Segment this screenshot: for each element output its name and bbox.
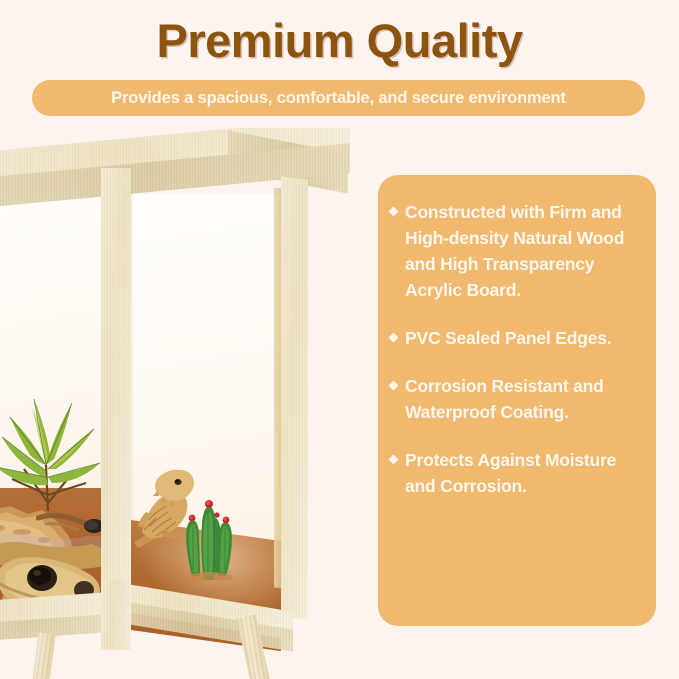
header-section: Premium Quality Provides a spacious, com… [0, 0, 679, 130]
feature-text: Protects Against Moisture and Corrosion. [405, 447, 642, 499]
subtitle-pill: Provides a spacious, comfortable, and se… [32, 80, 645, 116]
cabinet-corner-post-bottom [101, 580, 131, 650]
feature-item: PVC Sealed Panel Edges. [388, 325, 642, 351]
diamond-bullet-icon [389, 455, 399, 465]
fern-plant-decoration [0, 373, 110, 513]
feature-text: PVC Sealed Panel Edges. [405, 325, 611, 351]
diamond-bullet-icon [389, 333, 399, 343]
subtitle-text: Provides a spacious, comfortable, and se… [111, 89, 566, 108]
diamond-bullet-icon [389, 207, 399, 217]
cactus-plant-decoration [176, 484, 242, 580]
cabinet-leg-front [15, 632, 56, 679]
feature-item: Corrosion Resistant and Waterproof Coati… [388, 373, 642, 425]
cabinet-right-stile [281, 176, 308, 619]
feature-item: Constructed with Firm and High-density N… [388, 199, 642, 303]
feature-item: Protects Against Moisture and Corrosion. [388, 447, 642, 499]
feature-text: Constructed with Firm and High-density N… [405, 199, 642, 303]
page-title: Premium Quality [0, 12, 679, 70]
product-photo [0, 128, 350, 679]
cabinet-corner-post [101, 168, 131, 618]
diamond-bullet-icon [389, 381, 399, 391]
feature-text: Corrosion Resistant and Waterproof Coati… [405, 373, 642, 425]
features-panel: Constructed with Firm and High-density N… [378, 175, 656, 626]
